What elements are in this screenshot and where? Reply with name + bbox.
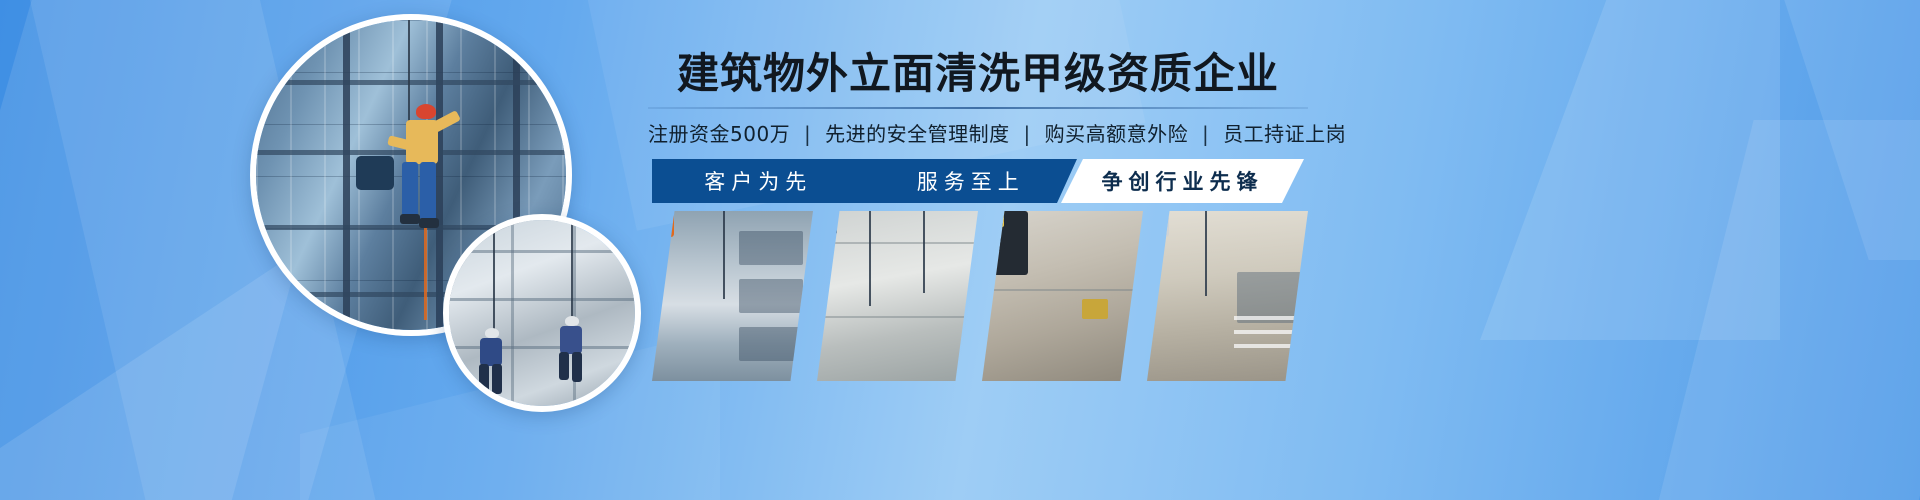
worker-torso <box>817 211 837 235</box>
worker-leg <box>402 162 418 216</box>
banner-subtitle: 注册资金500万 | 先进的安全管理制度 | 购买高额意外险 | 员工持证上岗 <box>648 120 1308 148</box>
helmet-icon <box>817 211 828 219</box>
worker-leg <box>420 162 436 220</box>
subtitle-item-3: 员工持证上岗 <box>1223 122 1346 146</box>
worker-torso <box>560 326 582 354</box>
safety-rope <box>571 220 573 320</box>
worker-leg <box>492 364 502 394</box>
slogan-ribbon-dark: 客户为先 服务至上 <box>652 159 1077 203</box>
subtitle-separator: | <box>797 122 818 146</box>
wall-backdrop <box>817 211 978 381</box>
promotional-banner: 建筑物外立面清洗甲级资质企业 注册资金500万 | 先进的安全管理制度 | 购买… <box>0 0 1920 500</box>
wall-line <box>817 316 978 318</box>
worker-leg <box>572 352 582 382</box>
plaster-trowel <box>1082 299 1108 319</box>
worker-leg <box>479 364 489 392</box>
subtitle-separator: | <box>1195 122 1216 146</box>
helmet-icon <box>817 211 828 219</box>
background-facet-shape <box>1480 0 1780 340</box>
worker-torso <box>982 211 1028 275</box>
strip-photo-2 <box>982 211 1143 381</box>
helmet-icon <box>652 211 664 220</box>
facade-line <box>511 220 514 406</box>
circle-photo-facade-workers <box>443 214 641 412</box>
worker-torso <box>817 211 837 235</box>
window-transom <box>256 80 566 85</box>
helmet-icon <box>1147 211 1159 220</box>
wall-line <box>817 242 978 244</box>
worker-boot <box>400 214 420 224</box>
worker-torso <box>652 211 674 237</box>
worker-leg <box>559 352 569 380</box>
strip-photo-3 <box>1147 211 1308 381</box>
subtitle-item-0: 注册资金500万 <box>648 122 790 146</box>
worker-glove <box>982 211 998 225</box>
banner-title: 建筑物外立面清洗甲级资质企业 <box>648 48 1308 100</box>
wall-line <box>982 289 1143 291</box>
building-window <box>739 279 803 313</box>
building-window <box>739 231 803 265</box>
safety-rope <box>923 211 925 293</box>
helmet-icon <box>565 316 579 326</box>
strip-photo-0 <box>652 211 813 381</box>
worker-glove <box>982 211 1004 227</box>
slogan-0: 客户为先 <box>704 166 812 196</box>
subtitle-separator: | <box>1017 122 1038 146</box>
photo-strip <box>652 211 1308 381</box>
safety-rope <box>493 220 495 332</box>
subtitle-item-2: 购买高额意外险 <box>1045 122 1189 146</box>
background-facet-shape <box>1646 120 1920 500</box>
safety-rope <box>723 211 725 299</box>
facade-line <box>449 346 635 349</box>
wall-facade-illustration <box>449 220 635 406</box>
safety-rope <box>1205 211 1207 296</box>
subtitle-item-1: 先进的安全管理制度 <box>825 122 1010 146</box>
safety-rope <box>869 211 871 306</box>
worker-torso <box>1147 211 1169 237</box>
slogan-2: 争创行业先锋 <box>1102 166 1264 196</box>
worker-boot <box>419 218 439 228</box>
helmet-icon <box>485 328 499 338</box>
worker-torso <box>480 338 502 366</box>
balcony-railing <box>1234 316 1305 320</box>
balcony-railing <box>1234 330 1305 334</box>
cleaning-bucket <box>356 156 394 190</box>
helmet-icon <box>416 104 436 119</box>
building-window <box>739 327 803 361</box>
title-divider <box>648 107 1308 109</box>
balcony-railing <box>1234 344 1305 348</box>
slogan-1: 服务至上 <box>917 166 1025 196</box>
headline-block: 建筑物外立面清洗甲级资质企业 注册资金500万 | 先进的安全管理制度 | 购买… <box>648 48 1308 148</box>
background-facet-shape <box>1771 0 1920 260</box>
window-mullion <box>343 20 350 330</box>
window-mullion <box>436 20 443 330</box>
strip-photo-1 <box>817 211 978 381</box>
slogan-ribbon-light: 争创行业先锋 <box>1061 159 1304 203</box>
slogan-ribbon: 客户为先 服务至上 争创行业先锋 <box>652 159 1304 203</box>
background-facet-shape <box>0 250 300 500</box>
facade-line <box>449 298 635 301</box>
facade-line <box>449 250 635 253</box>
